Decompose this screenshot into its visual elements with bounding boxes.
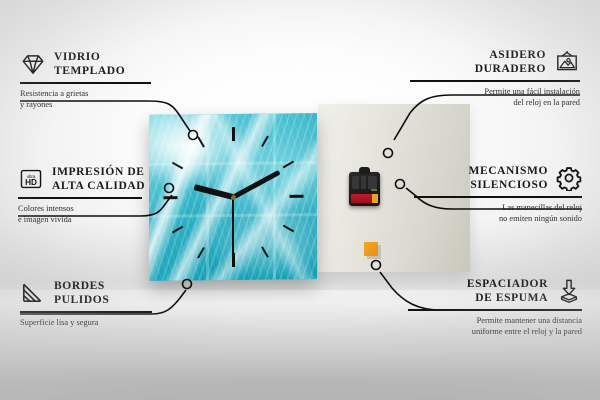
- feature-rule: [20, 82, 151, 84]
- feature-desc-line2: del reloj en la pared: [410, 97, 580, 108]
- feature-title-line2: TEMPLADO: [54, 64, 125, 78]
- feature-rule: [18, 197, 142, 199]
- feature-desc-line1: Colores intensos: [18, 203, 193, 214]
- feature-desc-line2: no emiten ningún sonido: [414, 213, 582, 224]
- feature-title-line1: BORDES: [54, 279, 109, 293]
- feature-desc-line1: Permite mantener una distancia: [408, 315, 582, 326]
- feature-desc-line2: e imagen vívida: [18, 214, 193, 225]
- feature-bordes-pulidos: BORDES PULIDOS Superficie lisa y segura: [20, 279, 195, 328]
- foam-spacer-arrow-icon: [556, 278, 582, 304]
- mechanism-housing-detail: [352, 176, 377, 189]
- feature-title-line2: DURADERO: [475, 62, 546, 76]
- feature-title-line2: DE ESPUMA: [467, 291, 548, 305]
- feature-desc-line1: Resistencia a grietas: [20, 88, 190, 99]
- ultra-hd-icon: ultra HD: [18, 166, 44, 192]
- battery: [351, 194, 378, 203]
- feature-asidero-duradero: ASIDERO DURADERO Permite una fácil insta…: [410, 48, 580, 108]
- feature-title-line2: PULIDOS: [54, 293, 109, 307]
- feature-desc-line2: uniforme entre el reloj y la pared: [408, 326, 582, 337]
- product-feature-infographic: VIDRIO TEMPLADO Resistencia a grietas y …: [0, 0, 600, 400]
- feature-desc-line1: Las manecillas del reloj: [414, 202, 582, 213]
- feature-title-line2: ALTA CALIDAD: [52, 179, 145, 193]
- feature-desc-line2: y rayones: [20, 99, 190, 110]
- feature-title-line1: MECANISMO: [468, 164, 548, 178]
- svg-text:HD: HD: [25, 178, 37, 187]
- feature-rule: [20, 311, 152, 313]
- mechanism-hanger-tab: [359, 167, 370, 174]
- polished-edges-icon: [20, 280, 46, 306]
- picture-frame-hanger-icon: [554, 49, 580, 75]
- feature-mecanismo-silencioso: MECANISMO SILENCIOSO Las manecillas del …: [414, 164, 582, 224]
- diamond-icon: [20, 51, 46, 77]
- feature-rule: [414, 196, 582, 198]
- mechanism-green-label: [371, 189, 377, 191]
- gear-icon: [556, 165, 582, 191]
- feature-impresion-alta-calidad: ultra HD IMPRESIÓN DE ALTA CALIDAD Color…: [18, 165, 193, 225]
- feature-title-line1: IMPRESIÓN DE: [52, 165, 145, 179]
- feature-title-line1: VIDRIO: [54, 50, 125, 64]
- foam-spacer-pad: [364, 242, 378, 256]
- feature-title-line1: ESPACIADOR: [467, 277, 548, 291]
- feature-title-line2: SILENCIOSO: [468, 178, 548, 192]
- feature-vidrio-templado: VIDRIO TEMPLADO Resistencia a grietas y …: [20, 50, 190, 110]
- feature-rule: [410, 80, 580, 82]
- feature-title-line1: ASIDERO: [475, 48, 546, 62]
- feature-espaciador-de-espuma: ESPACIADOR DE ESPUMA Permite mantener un…: [408, 277, 582, 337]
- feature-desc-line1: Permite una fácil instalación: [410, 86, 580, 97]
- clock-mechanism: [349, 172, 380, 206]
- feature-rule: [408, 309, 582, 311]
- feature-desc-line1: Superficie lisa y segura: [20, 317, 195, 328]
